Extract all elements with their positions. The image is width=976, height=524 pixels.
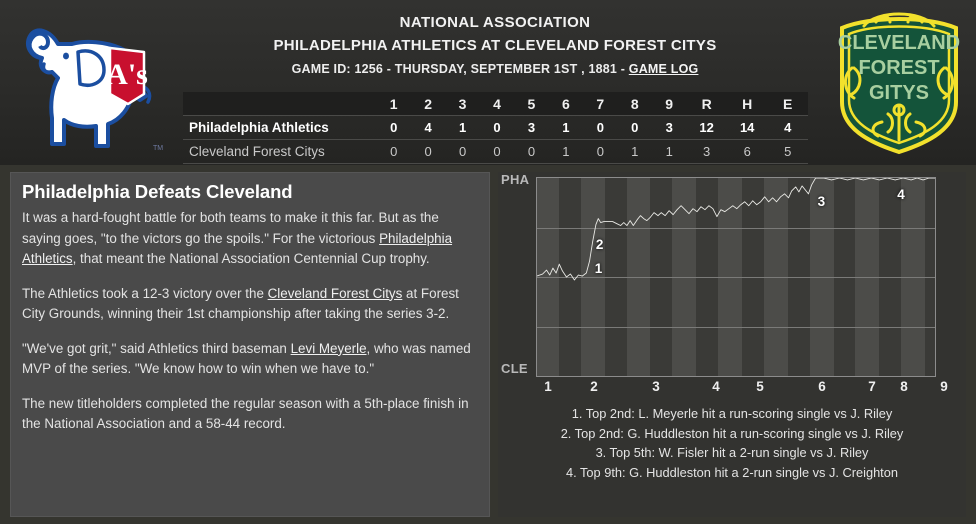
- away-inning-5: 3: [514, 116, 548, 139]
- chart-plot-area: 1234: [536, 177, 936, 377]
- article-paragraph: It was a hard-fought battle for both tea…: [22, 208, 478, 270]
- home-hits: 6: [727, 140, 768, 163]
- home-inning-5: 0: [514, 140, 548, 163]
- team-name-away[interactable]: Philadelphia Athletics: [183, 116, 376, 139]
- svg-text:A's: A's: [106, 58, 148, 91]
- away-inning-6: 1: [549, 116, 583, 139]
- col-header-8: 8: [618, 92, 652, 115]
- article-paragraph: The Athletics took a 12-3 victory over t…: [22, 284, 478, 325]
- col-header-7: 7: [583, 92, 617, 115]
- philadelphia-athletics-elephant-logo: A's TM: [16, 6, 166, 158]
- away-hits: 14: [727, 116, 768, 139]
- x-axis-tick: 8: [900, 379, 908, 394]
- body-area: Philadelphia Defeats Cleveland It was a …: [0, 165, 976, 524]
- key-play-marker[interactable]: 1: [595, 261, 603, 276]
- x-axis-tick: 7: [868, 379, 876, 394]
- home-inning-7: 0: [583, 140, 617, 163]
- key-play-item: 3. Top 5th: W. Fisler hit a 2-run single…: [512, 443, 952, 463]
- away-inning-4: 0: [480, 116, 514, 139]
- boxscore-corner-cell: [183, 92, 376, 115]
- home-errors: 5: [767, 140, 808, 163]
- win-probability-line: [537, 178, 935, 376]
- home-inning-8: 1: [618, 140, 652, 163]
- team-name-home[interactable]: Cleveland Forest Citys: [183, 140, 376, 163]
- x-axis-tick: 6: [818, 379, 826, 394]
- home-runs: 3: [686, 140, 727, 163]
- page-header: A's TM NATIONAL ASSOCIATION PHILADELPHIA…: [0, 0, 976, 165]
- key-play-marker[interactable]: 3: [818, 194, 826, 209]
- away-inning-2: 4: [411, 116, 445, 139]
- logo-line-3: GITYS: [869, 82, 929, 104]
- logo-line-1: CLEVELAND: [838, 32, 960, 54]
- svg-text:TM: TM: [153, 145, 163, 152]
- key-plays-legend: 1. Top 2nd: L. Meyerle hit a run-scoring…: [498, 404, 966, 482]
- table-row: Philadelphia Athletics 0 4 1 0 3 1 0 0 3…: [183, 116, 808, 139]
- logo-line-2: FOREST: [858, 57, 939, 79]
- article-text: , that meant the National Association Ce…: [73, 251, 430, 266]
- x-axis-tick: 3: [652, 379, 660, 394]
- game-info-line: GAME ID: 1256 - THURSDAY, SEPTEMBER 1ST …: [170, 62, 820, 76]
- col-header-errors: E: [767, 92, 808, 115]
- x-axis-tick: 9: [940, 379, 948, 394]
- home-inning-9: 1: [652, 140, 686, 163]
- article-paragraph: "We've got grit," said Athletics third b…: [22, 339, 478, 380]
- key-play-item: 1. Top 2nd: L. Meyerle hit a run-scoring…: [512, 404, 952, 424]
- header-titles: NATIONAL ASSOCIATION PHILADELPHIA ATHLET…: [170, 0, 820, 76]
- away-inning-7: 0: [583, 116, 617, 139]
- col-header-4: 4: [480, 92, 514, 115]
- article-text: The Athletics took a 12-3 victory over t…: [22, 286, 268, 301]
- boxscore-divider: [183, 163, 808, 164]
- col-header-9: 9: [652, 92, 686, 115]
- matchup-title: PHILADELPHIA ATHLETICS AT CLEVELAND FORE…: [170, 37, 820, 54]
- away-errors: 4: [767, 116, 808, 139]
- page-title: Philadelphia Defeats Cleveland: [22, 181, 478, 203]
- boxscore-header-row: 1 2 3 4 5 6 7 8 9 R H E: [183, 92, 808, 115]
- x-axis-tick: 5: [756, 379, 764, 394]
- home-inning-1: 0: [376, 140, 410, 163]
- table-row: Cleveland Forest Citys 0 0 0 0 0 1 0 1 1…: [183, 140, 808, 163]
- key-play-marker[interactable]: 2: [596, 237, 604, 252]
- cleveland-forest-citys-logo: CLEVELAND FOREST GITYS: [824, 6, 974, 158]
- x-axis-tick: 2: [590, 379, 598, 394]
- win-probability-chart: PHA CLE 1234 123456789: [498, 172, 966, 412]
- away-inning-9: 3: [652, 116, 686, 139]
- home-inning-3: 0: [445, 140, 479, 163]
- game-log-link[interactable]: GAME LOG: [629, 62, 699, 76]
- key-play-item: 2. Top 2nd: G. Huddleston hit a run-scor…: [512, 424, 952, 444]
- away-inning-8: 0: [618, 116, 652, 139]
- col-header-hits: H: [727, 92, 768, 115]
- article-text: It was a hard-fought battle for both tea…: [22, 210, 439, 246]
- away-inning-1: 0: [376, 116, 410, 139]
- col-header-2: 2: [411, 92, 445, 115]
- home-inning-4: 0: [480, 140, 514, 163]
- game-info-text: GAME ID: 1256 - THURSDAY, SEPTEMBER 1ST …: [292, 62, 629, 76]
- axis-label-bottom: CLE: [501, 361, 528, 376]
- x-axis-tick: 1: [544, 379, 552, 394]
- article-entity-link[interactable]: Cleveland Forest Citys: [268, 286, 403, 301]
- home-inning-6: 1: [549, 140, 583, 163]
- boxscore-table: 1 2 3 4 5 6 7 8 9 R H E Philadelphia Ath…: [183, 92, 808, 164]
- article-body: It was a hard-fought battle for both tea…: [22, 208, 478, 435]
- game-recap-article: Philadelphia Defeats Cleveland It was a …: [10, 172, 490, 517]
- chart-x-axis: 123456789: [536, 379, 936, 399]
- home-inning-2: 0: [411, 140, 445, 163]
- col-header-1: 1: [376, 92, 410, 115]
- col-header-runs: R: [686, 92, 727, 115]
- article-paragraph: The new titleholders completed the regul…: [22, 394, 478, 435]
- article-entity-link[interactable]: Levi Meyerle: [291, 341, 367, 356]
- article-text: The new titleholders completed the regul…: [22, 396, 469, 432]
- key-play-item: 4. Top 9th: G. Huddleston hit a 2-run si…: [512, 463, 952, 483]
- league-name: NATIONAL ASSOCIATION: [170, 14, 820, 31]
- col-header-5: 5: [514, 92, 548, 115]
- col-header-3: 3: [445, 92, 479, 115]
- away-inning-3: 1: [445, 116, 479, 139]
- x-axis-tick: 4: [712, 379, 720, 394]
- key-play-marker[interactable]: 4: [897, 187, 905, 202]
- col-header-6: 6: [549, 92, 583, 115]
- axis-label-top: PHA: [501, 172, 529, 187]
- away-runs: 12: [686, 116, 727, 139]
- win-probability-panel: PHA CLE 1234 123456789 1. Top 2nd: L. Me…: [498, 172, 966, 517]
- boxscore-body: 1 2 3 4 5 6 7 8 9 R H E Philadelphia Ath…: [183, 92, 808, 164]
- article-text: "We've got grit," said Athletics third b…: [22, 341, 291, 356]
